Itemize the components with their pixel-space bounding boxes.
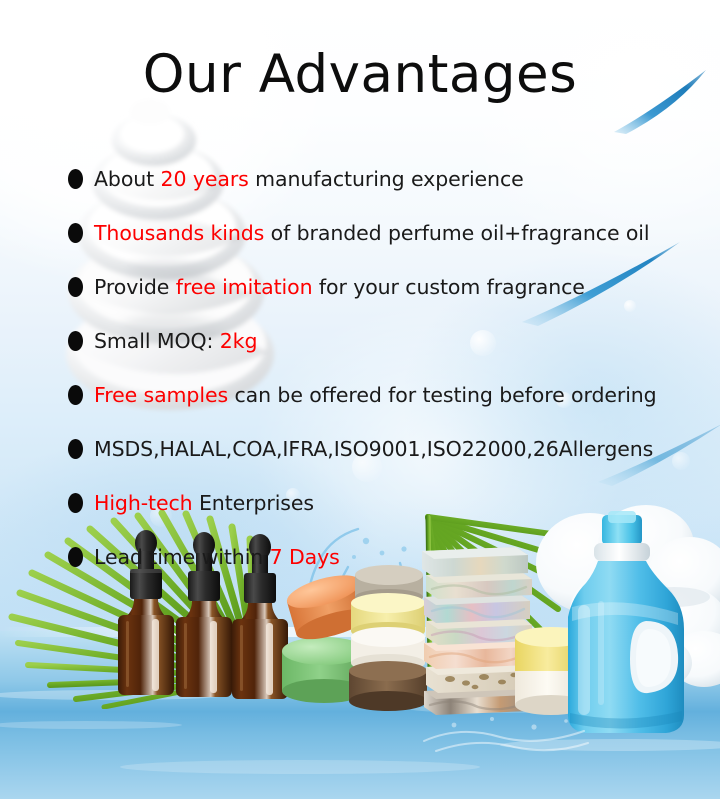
advantage-text: Small MOQ: 2kg xyxy=(94,330,257,353)
advantage-text: Lead time within 7 Days xyxy=(94,546,340,569)
advantage-item-certifications: MSDS,HALAL,COA,IFRA,ISO9001,ISO22000,26A… xyxy=(62,422,682,476)
advantage-text: Free samples can be offered for testing … xyxy=(94,384,657,407)
advantage-text: MSDS,HALAL,COA,IFRA,ISO9001,ISO22000,26A… xyxy=(94,438,653,461)
advantage-plain: manufacturing experience xyxy=(249,167,524,191)
bullet-dot-icon xyxy=(68,493,83,513)
bullet-dot-icon xyxy=(68,223,83,243)
advantages-banner: Our Advantages About 20 years manufactur… xyxy=(0,0,720,799)
advantage-highlight: Free samples xyxy=(94,383,228,407)
advantage-highlight: 7 Days xyxy=(270,545,340,569)
advantage-plain: Small MOQ: xyxy=(94,329,220,353)
bullet-dot-icon xyxy=(68,439,83,459)
advantage-plain: Provide xyxy=(94,275,176,299)
advantage-item-leadtime: Lead time within 7 Days xyxy=(62,530,682,584)
advantage-highlight: 20 years xyxy=(161,167,249,191)
advantage-item-imitation: Provide free imitation for your custom f… xyxy=(62,260,682,314)
advantage-item-samples: Free samples can be offered for testing … xyxy=(62,368,682,422)
bullet-dot-icon xyxy=(68,331,83,351)
advantage-item-hightech: High-tech Enterprises xyxy=(62,476,682,530)
advantage-plain: About xyxy=(94,167,161,191)
advantage-text: High-tech Enterprises xyxy=(94,492,314,515)
bullet-dot-icon xyxy=(68,547,83,567)
advantage-plain: Lead time within xyxy=(94,545,270,569)
advantage-highlight: High-tech xyxy=(94,491,193,515)
bullet-dot-icon xyxy=(68,385,83,405)
advantages-list: About 20 years manufacturing experienceT… xyxy=(62,152,682,584)
bullet-dot-icon xyxy=(68,169,83,189)
advantage-highlight: Thousands kinds xyxy=(94,221,264,245)
advantage-item-experience: About 20 years manufacturing experience xyxy=(62,152,682,206)
advantage-plain: of branded perfume oil+fragrance oil xyxy=(264,221,649,245)
page-title: Our Advantages xyxy=(0,48,720,101)
advantage-text: Provide free imitation for your custom f… xyxy=(94,276,585,299)
advantage-text: Thousands kinds of branded perfume oil+f… xyxy=(94,222,650,245)
advantage-plain: can be offered for testing before orderi… xyxy=(228,383,657,407)
advantage-highlight: free imitation xyxy=(176,275,313,299)
advantage-highlight: 2kg xyxy=(220,329,258,353)
water-splash-front-icon xyxy=(414,685,594,755)
advantage-plain: Enterprises xyxy=(193,491,314,515)
advantage-item-moq: Small MOQ: 2kg xyxy=(62,314,682,368)
advantage-item-variety: Thousands kinds of branded perfume oil+f… xyxy=(62,206,682,260)
advantage-plain: MSDS,HALAL,COA,IFRA,ISO9001,ISO22000,26A… xyxy=(94,437,653,461)
advantage-plain: for your custom fragrance xyxy=(312,275,584,299)
bullet-dot-icon xyxy=(68,277,83,297)
advantage-text: About 20 years manufacturing experience xyxy=(94,168,524,191)
